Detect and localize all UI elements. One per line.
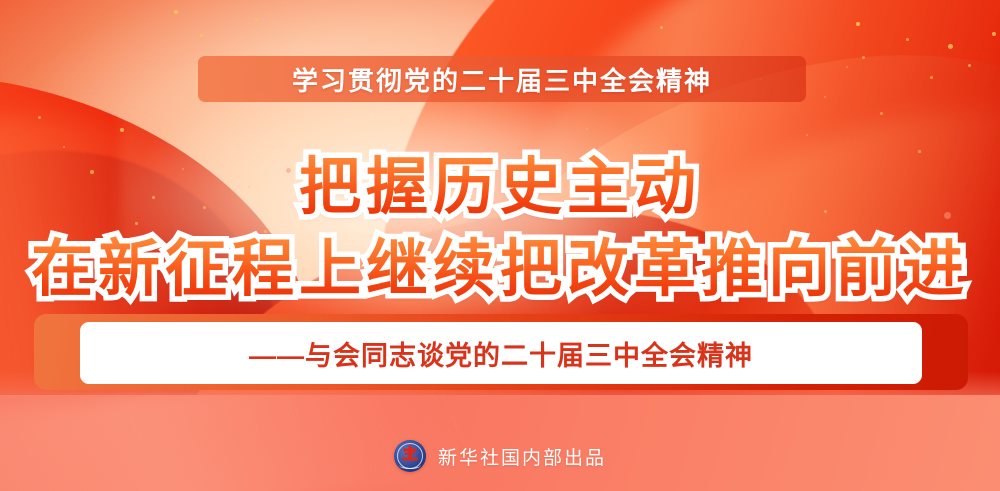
logo-emblem [402,446,417,461]
xinhua-agency-logo-icon [394,440,426,472]
footer-text: 新华社国内部出品 [438,443,606,470]
main-title-line-1-fill: 把握历史主动 [0,150,1000,226]
main-title-line-2-fill: 在新征程上继续把改革推向前进 [0,232,1000,308]
footer: 新华社国内部出品 [0,440,1000,472]
main-title-line-2: 在新征程上继续把改革推向前进 在新征程上继续把改革推向前进 [0,232,1000,308]
main-title-line-1: 把握历史主动 把握历史主动 [0,150,1000,226]
subtitle-bar: ——与会同志谈党的二十届三中全会精神 [80,322,922,384]
main-title: 把握历史主动 把握历史主动 在新征程上继续把改革推向前进 在新征程上继续把改革推… [0,150,1000,308]
top-banner-text: 学习贯彻党的二十届三中全会精神 [292,61,712,98]
poster-root: 学习贯彻党的二十届三中全会精神 把握历史主动 把握历史主动 在新征程上继续把改革… [0,0,1000,491]
top-banner: 学习贯彻党的二十届三中全会精神 [198,56,806,102]
subtitle-text: ——与会同志谈党的二十届三中全会精神 [249,334,753,373]
logo-arc-text [399,461,421,469]
